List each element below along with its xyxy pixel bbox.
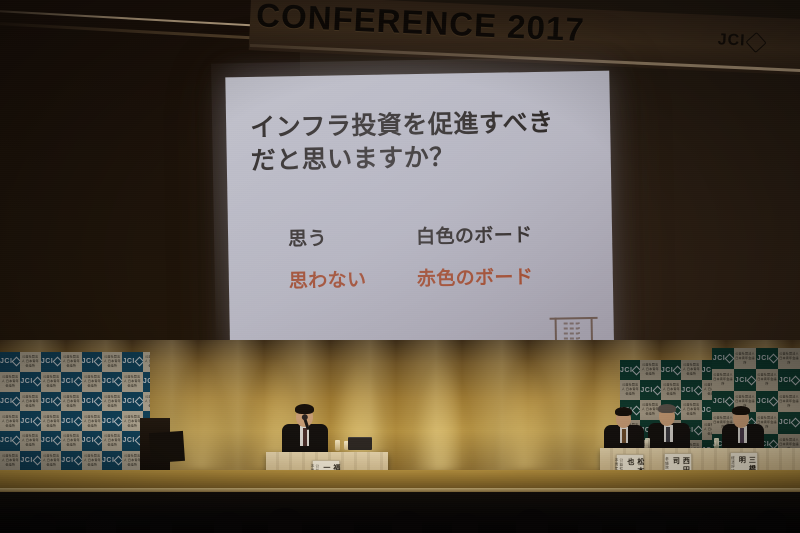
audience-head: [30, 513, 56, 533]
audience-head: [214, 512, 242, 533]
slide-title-line-1: インフラ投資を促進すべき: [250, 105, 591, 144]
water-glass-center: [335, 440, 340, 451]
audience-head: [698, 513, 724, 533]
audience-head: [150, 516, 172, 533]
audience-head: [268, 508, 302, 533]
banner-jci-logo: JCI: [717, 31, 764, 51]
audience-head: [578, 515, 602, 533]
audience-head: [330, 515, 354, 533]
uplight-5: [498, 361, 554, 471]
audience-head: [636, 511, 666, 533]
conference-photo-scene: CONFERENCE 2017 JCI インフラ投資を促進すべき だと思いますか…: [0, 0, 800, 533]
audience-silhouettes: [0, 492, 800, 533]
audience-head: [452, 513, 478, 533]
banner-jci-label: JCI: [717, 31, 746, 50]
stage-floor-monitor: [149, 431, 185, 463]
option-no-value: 赤色のボード: [417, 262, 534, 291]
laptop-center: [348, 437, 372, 450]
slide-option-no: 思わない 赤色のボード: [289, 261, 619, 294]
audience-head: [516, 509, 548, 533]
slide-option-yes: 思う 白色のボード: [288, 219, 618, 252]
diamond-icon: [745, 31, 766, 52]
slide-title-line-2: だと思いますか？: [250, 138, 591, 177]
audience-head: [756, 510, 786, 533]
uplight-4: [414, 361, 470, 471]
option-no-label: 思わない: [289, 264, 417, 293]
slide-title: インフラ投資を促進すべき だと思いますか？: [250, 105, 591, 177]
audience-head: [392, 511, 422, 533]
banner-title: CONFERENCE 2017: [255, 0, 585, 49]
option-yes-value: 白色のボード: [416, 220, 533, 249]
option-yes-label: 思う: [288, 222, 416, 251]
audience-head: [86, 510, 116, 533]
